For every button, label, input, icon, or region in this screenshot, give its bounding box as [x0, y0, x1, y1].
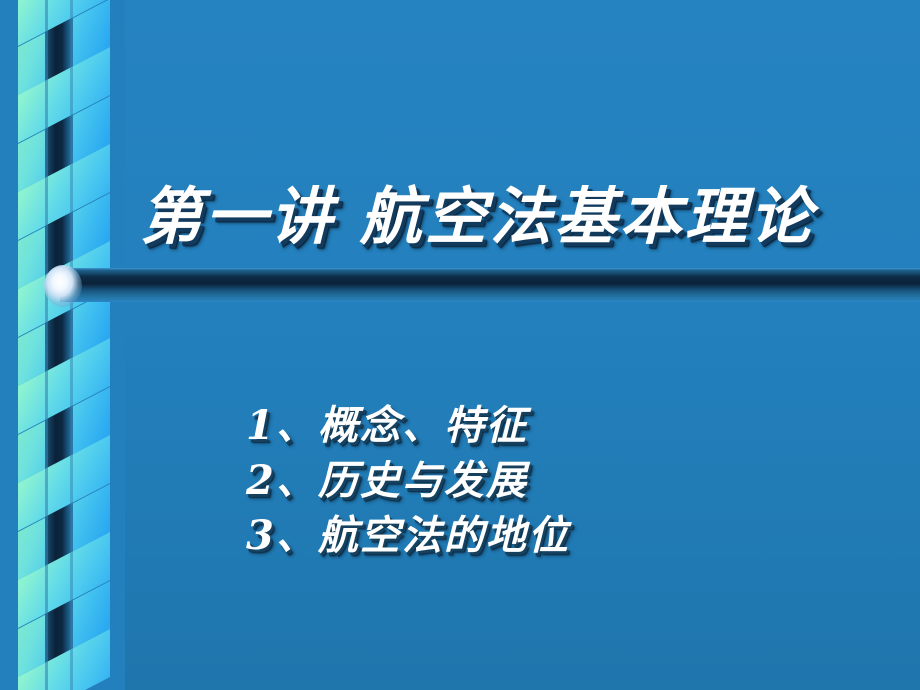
ribbon-decoration: [0, 0, 125, 690]
glow-bullet-marker: [44, 265, 82, 307]
list-item: 1、概念、特征: [246, 398, 846, 453]
ribbon-composite: [0, 0, 125, 690]
list-item: 3、航空法的地位: [246, 508, 846, 563]
slide-canvas: 第一讲 航空法基本理论 1、概念、特征 2、历史与发展 3、航空法的地位: [0, 0, 920, 690]
divider-bar-highlight: [60, 268, 920, 271]
bullet-list: 1、概念、特征 2、历史与发展 3、航空法的地位: [246, 398, 846, 563]
page-title: 第一讲 航空法基本理论: [140, 176, 880, 258]
divider-bar-fill: [60, 268, 920, 302]
title-underline-bar: [60, 268, 920, 302]
list-item: 2、历史与发展: [246, 453, 846, 508]
ribbon-svg: [0, 0, 125, 690]
